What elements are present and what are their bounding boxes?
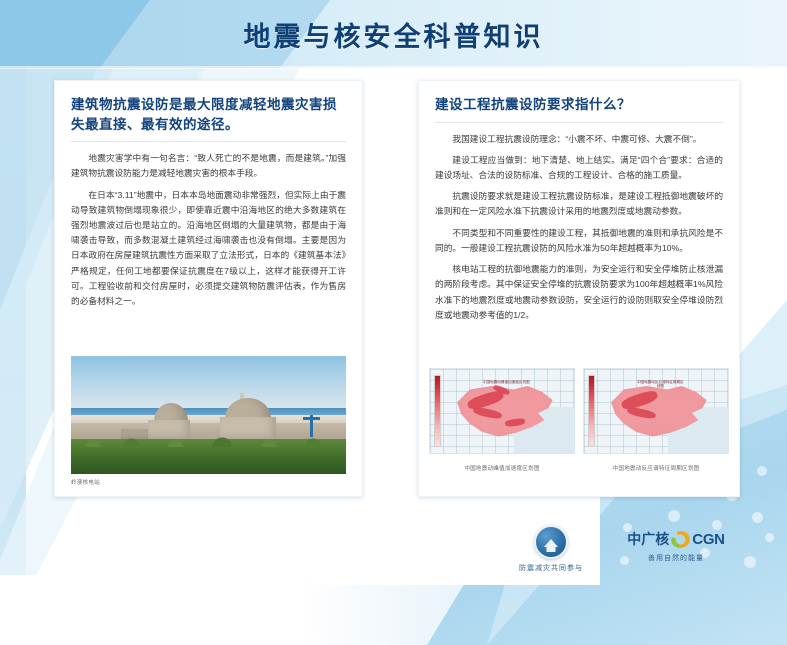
bottom-band: [0, 575, 787, 645]
seismic-logo-caption: 防震减灾共同参与: [508, 563, 594, 573]
poster-canvas: 地震与核安全科普知识 建筑物抗震设防是最大限度减轻地震灾害损失最直接、最有效的途…: [0, 0, 787, 645]
decor-dot: [583, 513, 594, 524]
right-paragraph-3: 抗震设防要求就是建设工程抗震设防标准，是建设工程抵御地震破坏的准则和在一定风险水…: [435, 189, 723, 219]
left-panel-heading: 建筑物抗震设防是最大限度减轻地震灾害损失最直接、最有效的途径。: [71, 95, 346, 134]
map-legend-scale-2: [588, 375, 595, 447]
cgn-english-name: CGN: [692, 531, 724, 548]
photo-image: [71, 356, 346, 474]
right-paragraph-4: 不同类型和不同重要性的建设工程，其抵御地震的准则和承抗风险是不同的。一般建设工程…: [435, 226, 723, 256]
cgn-logo-caption: 善用自然的能量: [616, 553, 736, 563]
map-caption-2: 中国地震动反应谱特征周期区划图: [583, 464, 729, 472]
decor-dot: [757, 466, 767, 476]
photo-sky: [71, 356, 346, 413]
right-content-panel: 建设工程抗震设防要求指什么？ 我国建设工程抗震设防理念：“小震不坏、中震可修、大…: [418, 80, 740, 497]
decor-dot: [752, 512, 763, 523]
decor-dot: [744, 556, 756, 568]
photo-caption: 岭澳核电站: [71, 478, 100, 486]
nuclear-plant-photo: [71, 356, 346, 474]
right-heading-divider: [435, 122, 723, 123]
left-paragraph-1: 地震灾害学中有一句名言：“致人死亡的不是地震，而是建筑。”加强建筑物抗震设防能力…: [71, 151, 346, 181]
page-title: 地震与核安全科普知识: [0, 8, 787, 60]
cgn-logo-mark: 中广核 CGN: [616, 525, 736, 553]
cgn-swirl-icon: [670, 529, 692, 549]
map-image-2: 中国地震动反应谱特征周期区划图: [583, 368, 729, 454]
map-inner-title-2: 中国地震动反应谱特征周期区划图: [636, 380, 685, 392]
map-caption-1: 中国地震动峰值加速度区划图: [429, 464, 575, 472]
right-paragraph-2: 建设工程应当做到：地下清楚、地上结实。满足“四个合”要求：合适的建设场址、合法的…: [435, 153, 723, 183]
left-paragraph-2: 在日本“3.11”地震中，日本本岛地面震动非常强烈，但实际上由于震动导致建筑物倒…: [71, 188, 346, 310]
footer-logos: 防震减灾共同参与 中广核 CGN 善用自然的能量: [500, 525, 740, 585]
map-image-1: 中国地震动峰值加速度区划图: [429, 368, 575, 454]
map-inner-title-1: 中国地震动峰值加速度区划图: [482, 380, 531, 392]
left-content-panel: 建筑物抗震设防是最大限度减轻地震灾害损失最直接、最有效的途径。 地震灾害学中有一…: [54, 80, 363, 497]
seismic-maps-row: 中国地震动峰值加速度区划图 中国地震动峰值加速度区划图 中国地震动反应谱特征周期…: [429, 368, 729, 472]
photo-treeline: [71, 439, 346, 474]
left-panel-body: 地震灾害学中有一句名言：“致人死亡的不是地震，而是建筑。”加强建筑物抗震设防能力…: [71, 151, 346, 309]
map-card-peak-acceleration: 中国地震动峰值加速度区划图 中国地震动峰值加速度区划图: [429, 368, 575, 472]
cgn-logo-block: 中广核 CGN 善用自然的能量: [616, 525, 736, 563]
header-rule: [0, 66, 787, 69]
map-card-response-spectrum: 中国地震动反应谱特征周期区划图 中国地震动反应谱特征周期区划图: [583, 368, 729, 472]
seismic-logo-block: 防震减灾共同参与: [508, 525, 594, 573]
decor-dot: [668, 510, 680, 522]
right-paragraph-5: 核电站工程的抗御地震能力的准则，为安全运行和安全停堆防止核泄漏的两阶段考虑。其中…: [435, 262, 723, 323]
map-legend-scale-1: [434, 375, 441, 447]
right-panel-heading: 建设工程抗震设防要求指什么？: [435, 95, 723, 115]
right-paragraph-1: 我国建设工程抗震设防理念：“小震不坏、中震可修、大震不倒”。: [435, 132, 723, 147]
left-side-strip: [0, 68, 26, 645]
decor-dot: [765, 533, 774, 542]
seismic-shelter-emblem-icon: [534, 525, 568, 559]
left-heading-divider: [71, 141, 346, 142]
right-panel-body: 我国建设工程抗震设防理念：“小震不坏、中震可修、大震不倒”。 建设工程应当做到：…: [435, 132, 723, 323]
cgn-chinese-name: 中广核: [627, 529, 669, 549]
